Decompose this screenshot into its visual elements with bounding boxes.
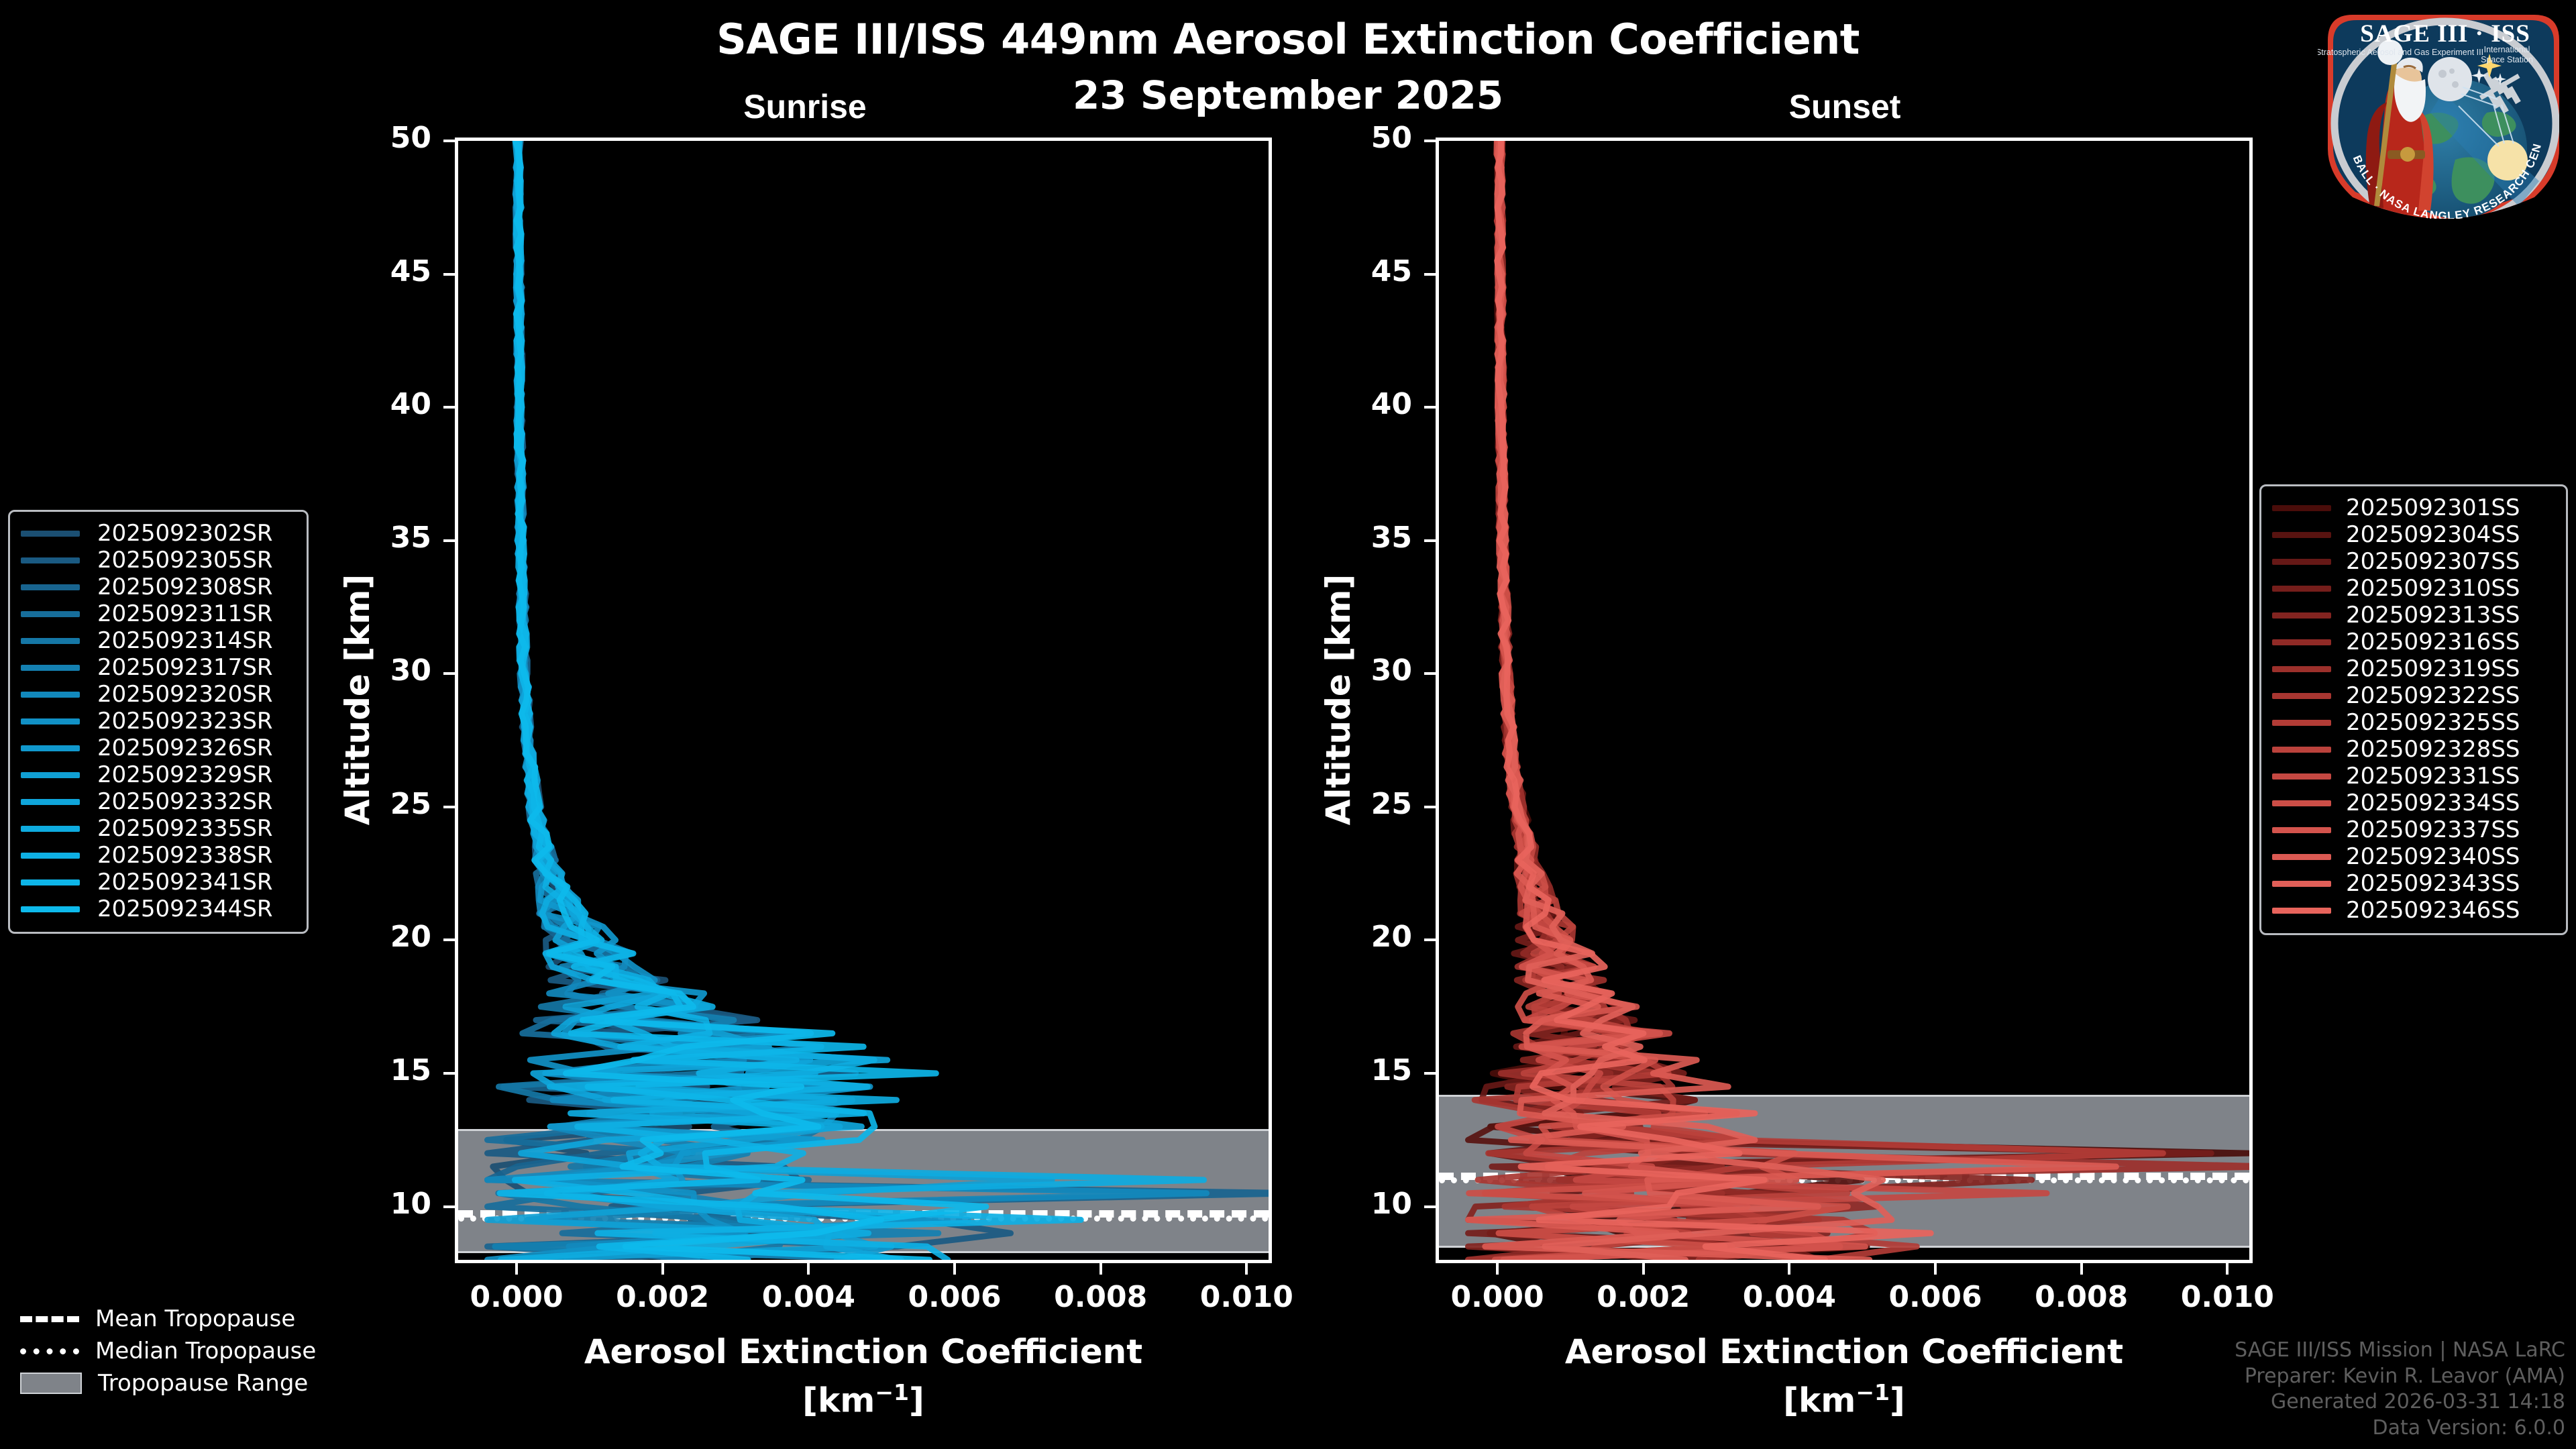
legend-color-swatch (2272, 773, 2331, 780)
legend-label: 2025092319SS (2346, 655, 2520, 682)
x-axis-label: Aerosol Extinction Coefficient (1358, 1332, 2330, 1371)
y-tick-label: 20 (331, 920, 431, 954)
legend-row-sunrise[interactable]: 2025092314SR (21, 627, 296, 654)
legend-color-swatch (21, 692, 80, 698)
legend-color-swatch (21, 718, 80, 724)
y-tick-mark (1424, 806, 1439, 808)
y-tick-label: 45 (1311, 254, 1412, 288)
legend-tropopause[interactable]: Mean Tropopause Median Tropopause Tropop… (20, 1303, 316, 1399)
legend-color-swatch (2272, 586, 2331, 592)
legend-row-sunset[interactable]: 2025092304SS (2272, 521, 2555, 548)
legend-row-sunset[interactable]: 2025092334SS (2272, 790, 2555, 816)
legend-color-swatch (2272, 639, 2331, 645)
legend-label: 2025092323SR (97, 708, 273, 735)
svg-text:Space Station: Space Station (2481, 55, 2533, 64)
legend-row-sunset[interactable]: 2025092307SS (2272, 548, 2555, 575)
legend-row-sunset[interactable]: 2025092343SS (2272, 870, 2555, 897)
y-tick-label: 15 (331, 1053, 431, 1087)
legend-label: 2025092332SR (97, 788, 273, 815)
legend-row-sunrise[interactable]: 2025092326SR (21, 735, 296, 761)
page-subtitle-date: 23 September 2025 (0, 72, 2576, 118)
legend-color-swatch (2272, 693, 2331, 699)
legend-row-sunrise[interactable]: 2025092320SR (21, 681, 296, 708)
y-axis-label: Altitude [km] (1319, 512, 1358, 888)
legend-row-median-tropopause: Median Tropopause (20, 1335, 316, 1367)
y-tick-label: 40 (1311, 387, 1412, 421)
legend-label: 2025092325SS (2346, 709, 2520, 736)
legend-label: 2025092335SR (97, 815, 273, 842)
y-tick-mark (443, 672, 458, 675)
panel-heading-sunrise: Sunrise (671, 87, 939, 126)
legend-row-sunset[interactable]: 2025092301SS (2272, 494, 2555, 521)
x-axis-units: [km−1] (378, 1379, 1349, 1420)
y-tick-mark (443, 1205, 458, 1208)
x-tick-mark (1245, 1260, 1248, 1275)
legend-color-swatch (21, 531, 80, 537)
page-title: SAGE III/ISS 449nm Aerosol Extinction Co… (0, 15, 2576, 64)
legend-label: 2025092341SR (97, 869, 273, 896)
legend-color-swatch (2272, 532, 2331, 538)
y-tick-mark (1424, 938, 1439, 941)
plot-area-sunrise (455, 138, 1272, 1263)
legend-row-sunset[interactable]: 2025092322SS (2272, 682, 2555, 709)
legend-color-swatch (21, 584, 80, 590)
legend-label: 2025092307SS (2346, 548, 2520, 575)
logo-subtitle-left: Stratospheric Aerosol and Gas Experiment… (2318, 48, 2483, 57)
y-tick-mark (1424, 1072, 1439, 1075)
legend-color-swatch (2272, 800, 2331, 806)
y-tick-label: 15 (1311, 1053, 1412, 1087)
y-tick-mark (443, 806, 458, 808)
legend-row-sunrise[interactable]: 2025092338SR (21, 842, 296, 869)
legend-row-sunrise[interactable]: 2025092335SR (21, 815, 296, 842)
legend-label: 2025092311SR (97, 600, 273, 627)
x-tick-label: 0.010 (2140, 1280, 2314, 1314)
y-tick-mark (443, 1072, 458, 1075)
x-tick-mark (807, 1260, 810, 1275)
legend-color-swatch (21, 745, 80, 751)
y-tick-mark (443, 406, 458, 409)
legend-row-sunset[interactable]: 2025092328SS (2272, 736, 2555, 763)
y-tick-label: 50 (1311, 121, 1412, 155)
legend-label: 2025092305SR (97, 547, 273, 574)
profile-curves-sunrise (458, 141, 1269, 1260)
legend-color-swatch (2272, 854, 2331, 860)
x-tick-mark (1496, 1260, 1499, 1275)
x-tick-mark (953, 1260, 956, 1275)
y-tick-mark (1424, 1205, 1439, 1208)
legend-label: 2025092331SS (2346, 763, 2520, 790)
legend-label: 2025092344SR (97, 896, 273, 922)
legend-row-sunset[interactable]: 2025092325SS (2272, 709, 2555, 736)
legend-color-swatch (21, 665, 80, 671)
legend-label: 2025092340SS (2346, 843, 2520, 870)
legend-row-sunset[interactable]: 2025092319SS (2272, 655, 2555, 682)
legend-color-swatch (21, 879, 80, 885)
legend-label: 2025092310SS (2346, 575, 2520, 602)
legend-row-sunset[interactable]: 2025092346SS (2272, 897, 2555, 924)
legend-label: 2025092328SS (2346, 736, 2520, 763)
legend-row-sunrise[interactable]: 2025092317SR (21, 654, 296, 681)
legend-color-swatch (2272, 720, 2331, 726)
legend-color-swatch (2272, 559, 2331, 565)
legend-label-mean-tropopause: Mean Tropopause (95, 1305, 295, 1332)
legend-row-sunrise[interactable]: 2025092308SR (21, 574, 296, 600)
legend-label: 2025092314SR (97, 627, 273, 654)
legend-label: 2025092320SR (97, 681, 273, 708)
y-tick-mark (1424, 539, 1439, 542)
legend-color-swatch (21, 826, 80, 832)
y-tick-label: 40 (331, 387, 431, 421)
y-tick-mark (1424, 406, 1439, 409)
legend-label: 2025092301SS (2346, 494, 2520, 521)
legend-label: 2025092304SS (2346, 521, 2520, 548)
legend-color-swatch (2272, 881, 2331, 887)
legend-row-sunrise[interactable]: 2025092332SR (21, 788, 296, 815)
x-tick-mark (1934, 1260, 1937, 1275)
y-tick-label: 50 (331, 121, 431, 155)
x-tick-mark (661, 1260, 664, 1275)
legend-row-sunset[interactable]: 2025092340SS (2272, 843, 2555, 870)
credit-preparer: Preparer: Kevin R. Leavor (AMA) (2235, 1364, 2565, 1389)
legend-row-sunrise[interactable]: 2025092329SR (21, 761, 296, 788)
legend-label: 2025092316SS (2346, 629, 2520, 655)
x-tick-mark (515, 1260, 518, 1275)
y-tick-label: 45 (331, 254, 431, 288)
x-tick-mark (1788, 1260, 1790, 1275)
x-axis-units: [km−1] (1358, 1379, 2330, 1420)
legend-color-swatch (2272, 827, 2331, 833)
legend-label: 2025092346SS (2346, 897, 2520, 924)
legend-label: 2025092322SS (2346, 682, 2520, 709)
legend-color-swatch (2272, 505, 2331, 511)
y-tick-mark (1424, 672, 1439, 675)
x-tick-mark (2226, 1260, 2229, 1275)
legend-label: 2025092338SR (97, 842, 273, 869)
legend-color-swatch (21, 799, 80, 805)
legend-row-sunrise[interactable]: 2025092302SR (21, 520, 296, 547)
sage-iii-iss-mission-patch-logo: BALL · NASA LANGLEY RESEARCH CENTER · TA… (2318, 5, 2569, 219)
legend-row-sunrise[interactable]: 2025092305SR (21, 547, 296, 574)
y-tick-label: 10 (1311, 1187, 1412, 1221)
credit-generated: Generated 2026-03-31 14:18 (2235, 1389, 2565, 1415)
plot-area-sunset (1436, 138, 2253, 1263)
legend-label: 2025092317SR (97, 654, 273, 681)
legend-color-swatch (21, 611, 80, 617)
y-tick-mark (443, 938, 458, 941)
x-tick-mark (1642, 1260, 1645, 1275)
dotted-line-swatch (20, 1348, 79, 1354)
legend-row-sunrise[interactable]: 2025092311SR (21, 600, 296, 627)
legend-label: 2025092308SR (97, 574, 273, 600)
legend-label: 2025092343SS (2346, 870, 2520, 897)
y-tick-mark (443, 273, 458, 276)
legend-color-swatch (21, 853, 80, 859)
logo-title: SAGE III · ISS (2360, 20, 2530, 48)
legend-label-tropopause-range: Tropopause Range (98, 1370, 308, 1397)
x-tick-mark (1099, 1260, 1102, 1275)
y-tick-mark (443, 140, 458, 142)
legend-row-sunrise[interactable]: 2025092341SR (21, 869, 296, 896)
legend-row-sunset[interactable]: 2025092331SS (2272, 763, 2555, 790)
legend-color-swatch (2272, 747, 2331, 753)
legend-row-sunset[interactable]: 2025092337SS (2272, 816, 2555, 843)
legend-color-swatch (2272, 666, 2331, 672)
legend-row-mean-tropopause: Mean Tropopause (20, 1303, 316, 1335)
y-tick-label: 10 (331, 1187, 431, 1221)
y-tick-mark (443, 539, 458, 542)
y-axis-label: Altitude [km] (338, 512, 377, 888)
legend-row-sunset[interactable]: 2025092316SS (2272, 629, 2555, 655)
legend-sunset[interactable]: 2025092301SS2025092304SS2025092307SS2025… (2259, 484, 2568, 935)
svg-text:International: International (2484, 45, 2530, 54)
credits-block: SAGE III/ISS Mission | NASA LaRC Prepare… (2235, 1338, 2565, 1441)
legend-sunrise[interactable]: 2025092302SR2025092305SR2025092308SR2025… (8, 510, 309, 934)
legend-color-swatch (21, 638, 80, 644)
dashed-line-swatch (20, 1316, 79, 1322)
x-axis-label: Aerosol Extinction Coefficient (378, 1332, 1349, 1371)
profile-curves-sunset (1439, 141, 2249, 1260)
legend-label-median-tropopause: Median Tropopause (95, 1338, 316, 1364)
legend-color-swatch (2272, 908, 2331, 914)
legend-row-sunrise[interactable]: 2025092344SR (21, 896, 296, 922)
y-tick-mark (1424, 140, 1439, 142)
x-tick-mark (2080, 1260, 2083, 1275)
figure-canvas: SAGE III/ISS 449nm Aerosol Extinction Co… (0, 0, 2576, 1449)
x-tick-label: 0.010 (1159, 1280, 1334, 1314)
legend-label: 2025092302SR (97, 520, 273, 547)
legend-color-swatch (21, 772, 80, 778)
legend-label: 2025092337SS (2346, 816, 2520, 843)
legend-label: 2025092326SR (97, 735, 273, 761)
legend-row-sunset[interactable]: 2025092313SS (2272, 602, 2555, 629)
legend-label: 2025092329SR (97, 761, 273, 788)
legend-row-sunset[interactable]: 2025092310SS (2272, 575, 2555, 602)
y-tick-label: 20 (1311, 920, 1412, 954)
legend-label: 2025092334SS (2346, 790, 2520, 816)
legend-color-swatch (21, 557, 80, 563)
legend-label: 2025092313SS (2346, 602, 2520, 629)
y-tick-mark (1424, 273, 1439, 276)
legend-color-swatch (21, 906, 80, 912)
legend-color-swatch (2272, 612, 2331, 619)
legend-row-sunrise[interactable]: 2025092323SR (21, 708, 296, 735)
credit-data-version: Data Version: 6.0.0 (2235, 1415, 2565, 1441)
legend-row-tropopause-range: Tropopause Range (20, 1367, 316, 1399)
panel-heading-sunset: Sunset (1711, 87, 1979, 126)
credit-mission: SAGE III/ISS Mission | NASA LaRC (2235, 1338, 2565, 1363)
band-swatch (20, 1373, 82, 1394)
